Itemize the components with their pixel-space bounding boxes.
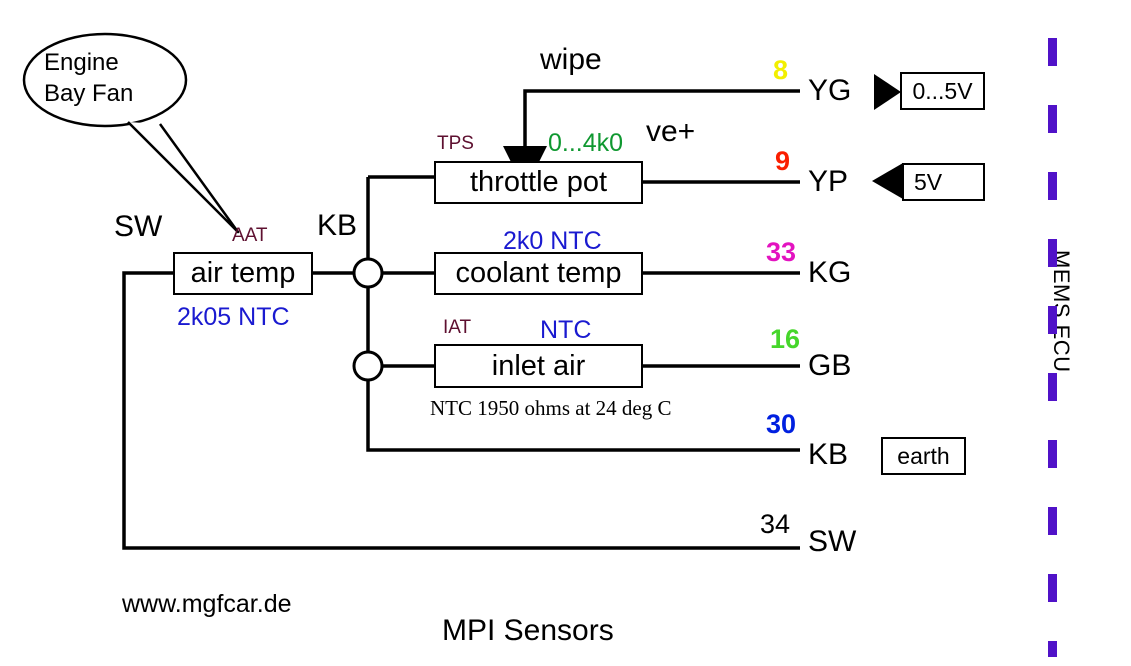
sublabel-coolant-ntc: 2k0 NTC	[503, 229, 602, 254]
wire-code-kg: KG	[808, 258, 851, 288]
arrow-left-icon	[872, 163, 903, 199]
bus-label-kb: KB	[317, 211, 357, 241]
junction-node-coolant	[354, 259, 382, 287]
bus-label-sw: SW	[114, 212, 162, 242]
note-ntc-resistance: NTC 1950 ohms at 24 deg C	[430, 398, 672, 419]
earth-label: earth	[897, 443, 949, 470]
component-box-air-temp[interactable]: air temp	[173, 252, 313, 295]
ecu-boundary-dash	[1048, 574, 1057, 602]
pin-number-16: 16	[770, 326, 800, 353]
air-temp-label: air temp	[191, 257, 296, 290]
pin-number-30: 30	[766, 411, 796, 438]
tag-aat: AAT	[232, 226, 268, 245]
callout-line-2: Bay Fan	[44, 79, 184, 110]
wire-code-yp: YP	[808, 167, 848, 197]
diagram-title: MPI Sensors	[442, 616, 614, 646]
ecu-boundary-dash	[1048, 306, 1057, 334]
volt-5v-label: 5V	[914, 169, 942, 196]
tag-iat: IAT	[443, 318, 471, 337]
website-label: www.mgfcar.de	[122, 592, 292, 617]
coolant-temp-label: coolant temp	[455, 257, 621, 290]
ecu-boundary-dash	[1048, 440, 1057, 468]
diagram-canvas: Engine Bay Fan air temp throttle pot coo…	[0, 0, 1131, 666]
callout-label: Engine Bay Fan	[44, 48, 184, 109]
sublabel-tps-range: 0...4k0	[548, 131, 623, 156]
sublabel-air-temp-ntc: 2k05 NTC	[177, 305, 290, 330]
wire-code-kb: KB	[808, 440, 848, 470]
inlet-air-label: inlet air	[492, 350, 586, 383]
throttle-pot-label: throttle pot	[470, 166, 607, 199]
label-ve-plus: ve+	[646, 117, 695, 147]
ecu-boundary-dash	[1048, 105, 1057, 133]
ecu-boundary-dash	[1048, 172, 1057, 200]
ecu-boundary-dash	[1048, 373, 1057, 401]
signal-box-volt-5v[interactable]: 5V	[902, 163, 985, 201]
wire-code-yg: YG	[808, 76, 851, 106]
component-box-inlet-air[interactable]: inlet air	[434, 344, 643, 388]
signal-box-volt-range[interactable]: 0...5V	[900, 72, 985, 110]
component-box-coolant-temp[interactable]: coolant temp	[434, 252, 643, 295]
pin-number-9: 9	[775, 148, 790, 175]
tag-tps: TPS	[437, 134, 474, 153]
ecu-boundary-dash	[1048, 239, 1057, 267]
ecu-boundary-dash	[1048, 641, 1057, 657]
sublabel-iat-ntc: NTC	[540, 318, 591, 343]
ecu-boundary-dash	[1048, 507, 1057, 535]
junction-node-inlet	[354, 352, 382, 380]
component-box-throttle-pot[interactable]: throttle pot	[434, 161, 643, 204]
pin-number-34: 34	[760, 511, 790, 538]
wire-code-sw: SW	[808, 527, 856, 557]
signal-box-earth[interactable]: earth	[881, 437, 966, 475]
wire-code-gb: GB	[808, 351, 851, 381]
pin-number-8: 8	[773, 57, 788, 84]
label-wipe: wipe	[540, 45, 602, 75]
arrow-right-icon	[874, 74, 901, 110]
ecu-boundary-dash	[1048, 38, 1057, 66]
pin-number-33: 33	[766, 239, 796, 266]
volt-range-label: 0...5V	[912, 78, 972, 105]
callout-line-1: Engine	[44, 48, 184, 79]
